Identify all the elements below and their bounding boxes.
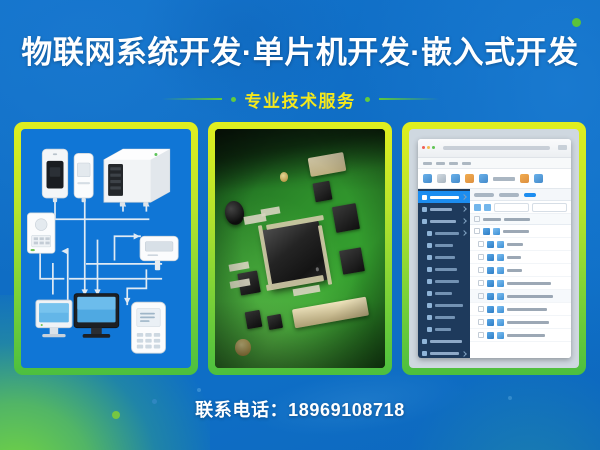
- row-label: [507, 269, 522, 272]
- chevron-down-icon[interactable]: [461, 230, 467, 236]
- tab-1[interactable]: [474, 193, 494, 197]
- sidebar-item-label: [430, 196, 459, 199]
- iot-topology-svg: [21, 129, 191, 368]
- sidebar-item-3[interactable]: [418, 215, 470, 227]
- page-subtitle: 专业技术服务: [245, 87, 356, 112]
- filter-bar: [470, 201, 571, 215]
- sidebar-item-icon: [427, 303, 432, 308]
- sidebar-item-label: [435, 256, 455, 259]
- sidebar-item-icon: [422, 219, 427, 224]
- folder-icon: [487, 241, 494, 248]
- row-checkbox[interactable]: [478, 332, 484, 338]
- sidebar-item-icon: [427, 279, 432, 284]
- toolbar-export-icon[interactable]: [465, 174, 474, 183]
- document-icon: [497, 254, 504, 261]
- app-body: [418, 189, 571, 358]
- document-icon: [497, 241, 504, 248]
- toolbar-copy-icon[interactable]: [451, 174, 460, 183]
- sidebar-item-label: [430, 208, 452, 211]
- device-self-service-kiosk: [132, 302, 166, 353]
- sidebar-item-label: [435, 316, 455, 319]
- toolbar-label: [493, 177, 515, 181]
- device-desktop-monitor: [36, 300, 72, 337]
- row-label: [503, 230, 529, 233]
- grid-icon[interactable]: [484, 204, 491, 211]
- toolbar-settings-icon[interactable]: [534, 174, 543, 183]
- folder-icon: [483, 228, 490, 235]
- document-icon: [497, 267, 504, 274]
- accent-dot-right: [365, 97, 370, 102]
- sidebar-item-6[interactable]: [418, 251, 470, 263]
- chevron-down-icon[interactable]: [461, 194, 467, 200]
- sidebar-item-8[interactable]: [418, 275, 470, 287]
- sidebar-item-label: [435, 232, 459, 235]
- table-row[interactable]: [470, 225, 571, 238]
- device-server-tower: [104, 149, 170, 206]
- sidebar-item-label: [435, 304, 463, 307]
- search-input[interactable]: [494, 203, 529, 212]
- toolbar-refresh-icon[interactable]: [423, 174, 432, 183]
- sidebar-item-label: [430, 340, 462, 343]
- menu-item-1[interactable]: [423, 162, 432, 165]
- row-label: [507, 308, 547, 311]
- sidebar-item-label: [435, 244, 453, 247]
- sidebar-item-icon: [427, 243, 432, 248]
- document-icon: [497, 306, 504, 313]
- row-label: [507, 334, 545, 337]
- sidebar-item-icon: [427, 255, 432, 260]
- toolbar-back-icon[interactable]: [437, 174, 446, 183]
- sidebar-item-7[interactable]: [418, 263, 470, 275]
- minimize-icon[interactable]: [427, 146, 430, 149]
- titlebar-button[interactable]: [558, 145, 567, 150]
- folder-icon: [487, 332, 494, 339]
- row-checkbox[interactable]: [478, 267, 484, 273]
- table-row[interactable]: [470, 290, 571, 303]
- panel-row: [14, 122, 586, 375]
- table-row[interactable]: [470, 303, 571, 316]
- table-row[interactable]: [470, 264, 571, 277]
- app-window: [418, 139, 571, 359]
- document-icon: [497, 293, 504, 300]
- column-header-1: [483, 218, 501, 221]
- chevron-down-icon[interactable]: [461, 206, 467, 212]
- table-row[interactable]: [470, 251, 571, 264]
- accent-line-left: [162, 98, 222, 100]
- device-sensor-module: [74, 153, 93, 202]
- filter-icon[interactable]: [474, 204, 481, 211]
- device-lcd-monitor: [74, 294, 119, 338]
- app-menubar: [418, 158, 571, 169]
- pcb-vignette: [215, 129, 385, 368]
- row-label: [507, 321, 549, 324]
- row-checkbox[interactable]: [478, 241, 484, 247]
- close-icon[interactable]: [422, 146, 425, 149]
- tab-2[interactable]: [499, 193, 519, 197]
- folder-icon: [487, 280, 494, 287]
- app-screenshot: [409, 129, 579, 368]
- sidebar-item-icon: [422, 351, 427, 356]
- device-intercom-unit: [27, 213, 55, 253]
- pcb-image: [215, 129, 385, 368]
- sidebar-item-icon: [422, 195, 427, 200]
- table-row[interactable]: [470, 238, 571, 251]
- row-label: [507, 243, 523, 246]
- table-row[interactable]: [470, 316, 571, 329]
- toolbar-import-icon[interactable]: [479, 174, 488, 183]
- row-checkbox[interactable]: [478, 306, 484, 312]
- sidebar-item-13[interactable]: [418, 336, 470, 348]
- maximize-icon[interactable]: [432, 146, 435, 149]
- row-label: [507, 282, 551, 285]
- folder-icon: [487, 293, 494, 300]
- sidebar-item-label: [435, 328, 451, 331]
- sidebar-item-2[interactable]: [418, 203, 470, 215]
- toolbar-tool-icon[interactable]: [520, 174, 529, 183]
- document-icon: [497, 332, 504, 339]
- sidebar-item-icon: [427, 315, 432, 320]
- decorative-dot-green-top-right: [572, 18, 581, 27]
- decorative-dot-blue-2: [197, 388, 201, 392]
- app-titlebar: [418, 139, 571, 159]
- row-label: [507, 256, 521, 259]
- app-sidebar: [418, 189, 470, 358]
- folder-icon: [487, 319, 494, 326]
- row-checkbox[interactable]: [478, 254, 484, 260]
- contact-phone: 联系电话：18969108718: [0, 396, 600, 422]
- sidebar-item-12[interactable]: [418, 324, 470, 336]
- sidebar-item-label: [435, 280, 459, 283]
- app-window-title: [443, 146, 550, 150]
- sidebar-item-icon: [427, 291, 432, 296]
- menu-item-2[interactable]: [436, 162, 445, 165]
- app-main-content: [470, 189, 571, 358]
- row-checkbox[interactable]: [478, 293, 484, 299]
- iot-diagram-canvas: [21, 129, 191, 368]
- panel-software-screenshot[interactable]: [402, 122, 586, 375]
- filter-select[interactable]: [532, 203, 567, 212]
- row-label: [507, 295, 553, 298]
- folder-icon: [487, 254, 494, 261]
- sidebar-item-9[interactable]: [418, 287, 470, 299]
- table-row[interactable]: [470, 277, 571, 290]
- device-access-control-panel: [42, 149, 68, 202]
- accent-line-right: [379, 98, 439, 100]
- sidebar-item-4[interactable]: [418, 227, 470, 239]
- chevron-down-icon[interactable]: [461, 351, 467, 357]
- device-gateway-router: [140, 236, 178, 270]
- sidebar-item-icon: [422, 207, 427, 212]
- chevron-down-icon[interactable]: [461, 218, 467, 224]
- sidebar-item-icon: [422, 339, 427, 344]
- table-header-row: [470, 214, 571, 225]
- app-toolbar: [418, 169, 571, 189]
- sidebar-item-label: [430, 352, 459, 355]
- menu-item-3[interactable]: [449, 162, 458, 165]
- folder-icon: [487, 306, 494, 313]
- document-icon: [493, 228, 500, 235]
- page-title: 物联网系统开发·单片机开发·嵌入式开发: [0, 27, 600, 72]
- column-header-2: [504, 218, 530, 221]
- content-tabs: [470, 189, 571, 201]
- sidebar-item-11[interactable]: [418, 312, 470, 324]
- sidebar-item-label: [435, 268, 457, 271]
- menu-item-4[interactable]: [462, 162, 471, 165]
- table-row[interactable]: [470, 329, 571, 342]
- promo-banner: 物联网系统开发·单片机开发·嵌入式开发 专业技术服务: [0, 0, 600, 450]
- sidebar-item-icon: [427, 267, 432, 272]
- panel-iot-topology[interactable]: [14, 122, 198, 375]
- tree-list: [470, 225, 571, 358]
- tab-3-selected[interactable]: [524, 193, 536, 197]
- folder-icon: [487, 267, 494, 274]
- panel-pcb-photo[interactable]: [208, 122, 392, 375]
- row-checkbox[interactable]: [474, 228, 480, 234]
- document-icon: [497, 280, 504, 287]
- sidebar-item-label: [435, 292, 452, 295]
- sidebar-item-10[interactable]: [418, 300, 470, 312]
- sidebar-item-icon: [427, 327, 432, 332]
- sidebar-item-5[interactable]: [418, 239, 470, 251]
- accent-dot-left: [231, 97, 236, 102]
- document-icon: [497, 319, 504, 326]
- subtitle-row: 专业技术服务: [0, 86, 600, 112]
- sidebar-item-label: [430, 220, 456, 223]
- row-checkbox[interactable]: [478, 319, 484, 325]
- sidebar-item-14[interactable]: [418, 348, 470, 359]
- sidebar-item-icon: [427, 231, 432, 236]
- sidebar-item-1[interactable]: [418, 191, 470, 203]
- row-checkbox[interactable]: [478, 280, 484, 286]
- select-all-checkbox[interactable]: [474, 216, 480, 222]
